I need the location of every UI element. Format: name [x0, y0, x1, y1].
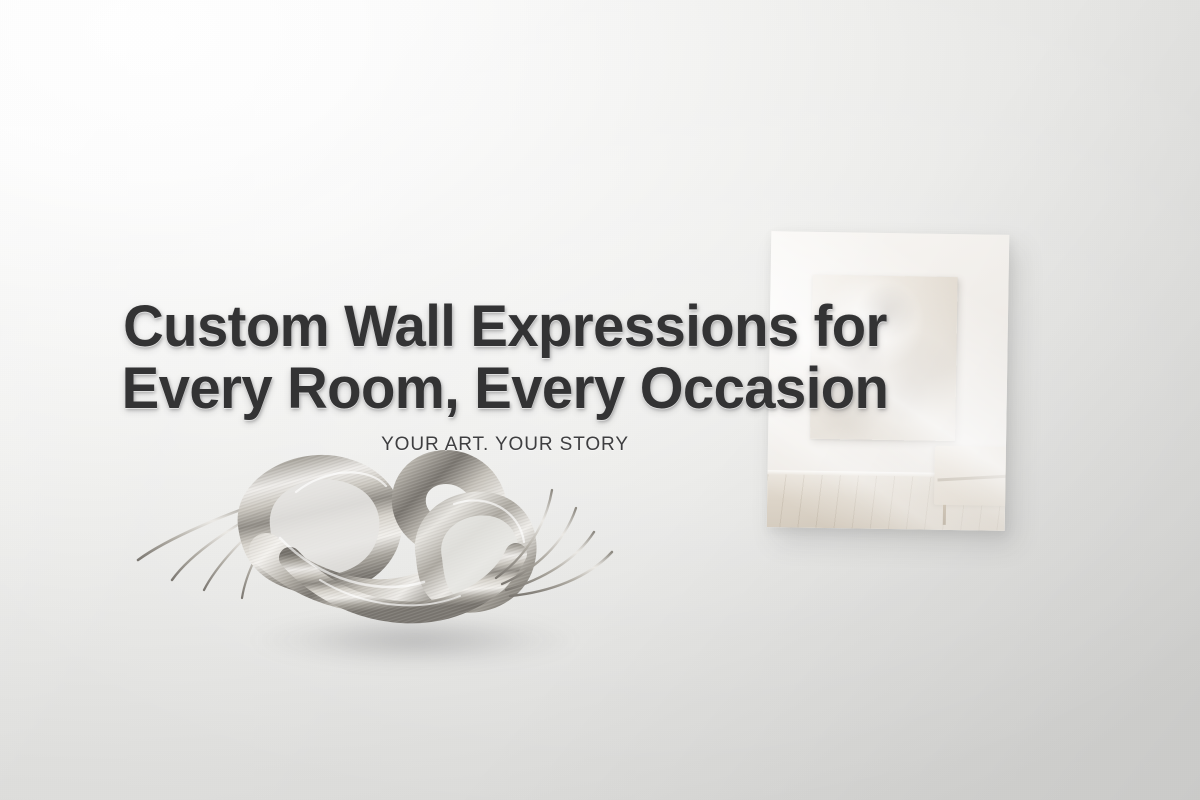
metal-infinity-ribbon-sculpture[interactable] — [120, 430, 620, 660]
background-grain-texture — [0, 0, 1200, 800]
interior-room-photo[interactable] — [767, 231, 1010, 531]
wall-artwork-canvas — [810, 275, 958, 442]
hero-banner: Custom Wall Expressions for Every Room, … — [0, 0, 1200, 800]
room-sofa — [934, 445, 1010, 505]
